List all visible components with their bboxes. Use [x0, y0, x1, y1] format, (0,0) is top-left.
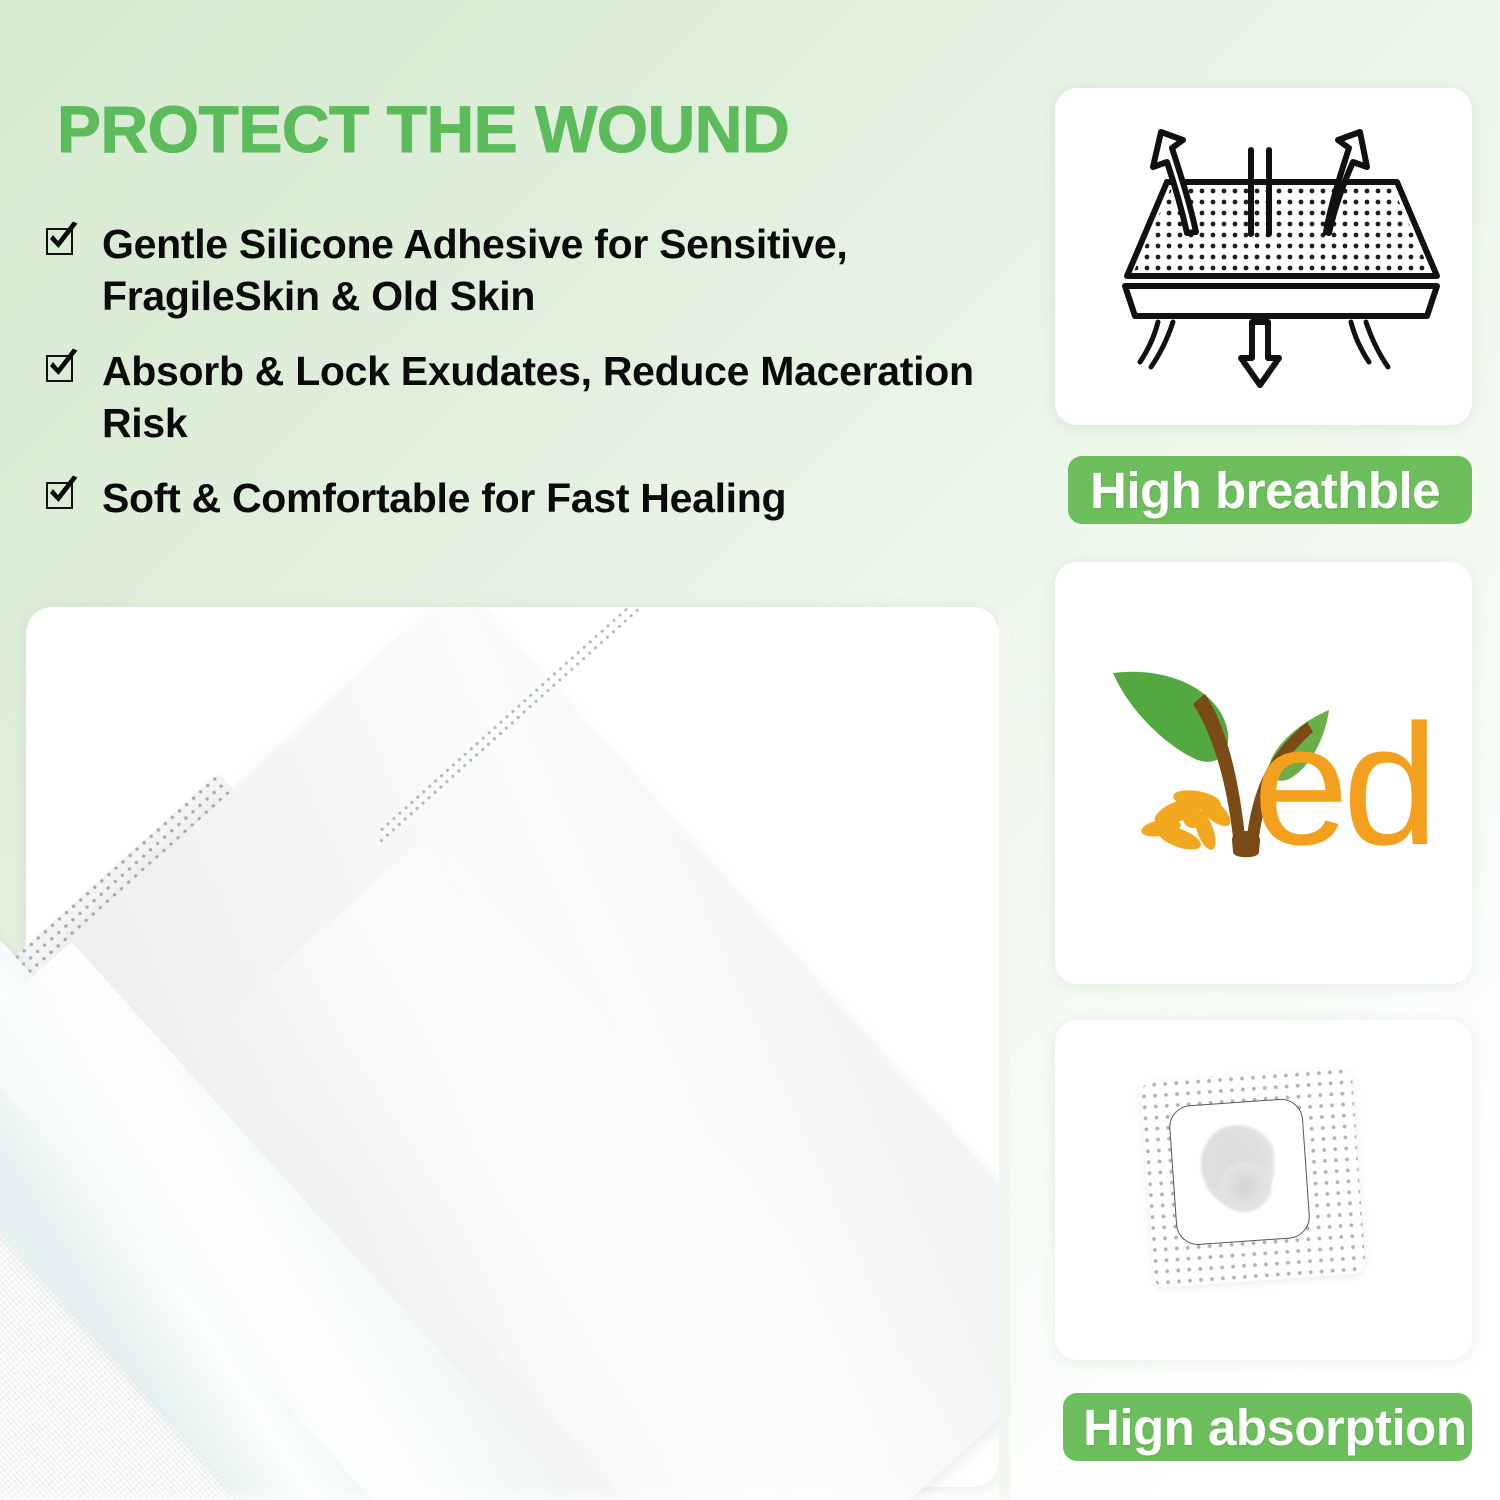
status-badge-absorption: Hign absorption — [1063, 1393, 1472, 1461]
list-item: Absorb & Lock Exudates, Reduce Maceratio… — [44, 345, 1024, 450]
feature-text: Absorb & Lock Exudates, Reduce Maceratio… — [102, 345, 1024, 450]
list-item: Gentle Silicone Adhesive for Sensitive, … — [44, 218, 1024, 323]
breathable-layers-icon — [1055, 88, 1472, 425]
breathability-card — [1055, 88, 1472, 425]
badge-label: High breathble — [1090, 461, 1440, 520]
page-title: PROTECT THE WOUND — [57, 96, 1017, 162]
main-product-photo-card — [26, 607, 999, 1487]
absorption-card — [1055, 1020, 1472, 1360]
list-item: Soft & Comfortable for Fast Healing — [44, 472, 1024, 524]
feature-text: Gentle Silicone Adhesive for Sensitive, … — [102, 218, 1024, 323]
status-badge-breathability: High breathble — [1068, 456, 1472, 524]
badge-label: Hign absorption — [1083, 1398, 1466, 1457]
infographic-canvas: PROTECT THE WOUND Gentle Silicone Adhesi… — [0, 0, 1500, 1500]
feature-text: Soft & Comfortable for Fast Healing — [102, 472, 786, 524]
brand-name: ed — [1253, 689, 1432, 881]
checkbox-checked-icon — [44, 478, 80, 518]
feature-list: Gentle Silicone Adhesive for Sensitive, … — [44, 218, 1024, 524]
checkbox-checked-icon — [44, 224, 80, 264]
ved-leaf-logo: ed — [1093, 648, 1438, 898]
absorbent-patch-photo — [1055, 1020, 1472, 1360]
checkbox-checked-icon — [44, 351, 80, 391]
